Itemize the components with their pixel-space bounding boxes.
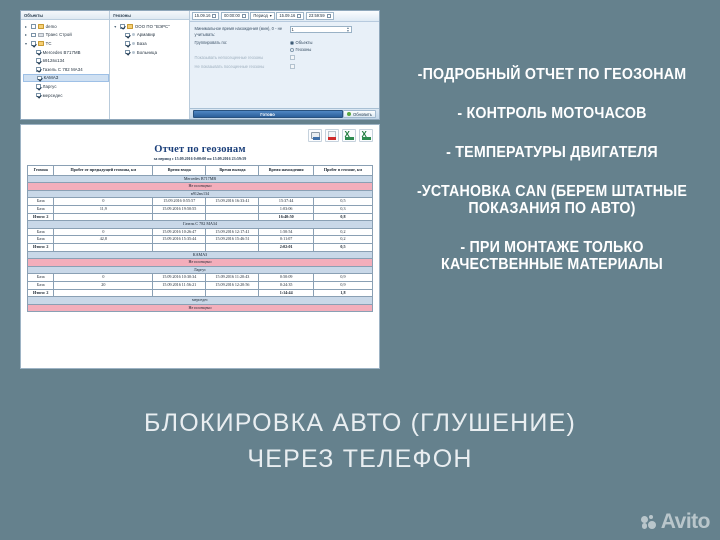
table-total-row: Итого: 22:02:010,5: [28, 243, 373, 251]
group-by-geozones-label: Геозоны: [296, 47, 312, 52]
filter-panel: 15.09.16 00:00:00 Период ▾ 15.09.16 23:5…: [190, 11, 379, 119]
group-by-row: Группировать по: Объекты Геозоны: [195, 40, 374, 52]
table-cell: База: [28, 281, 54, 289]
refresh-button[interactable]: Обновить: [343, 110, 376, 118]
chevron-down-icon: ▾: [270, 12, 272, 19]
table-total-cell: [153, 213, 206, 221]
checkbox-checked-icon[interactable]: [125, 33, 130, 38]
geozones-tree-item-label: Больница: [137, 50, 157, 55]
table-cell: 0:24:35: [259, 281, 313, 289]
table-row: База015.09.2016 10:26:4715.09.2016 12:17…: [28, 228, 373, 236]
date-to-field[interactable]: 15.09.16: [276, 12, 304, 20]
vehicle-group-row: Ларгус: [28, 266, 373, 274]
group-by-objects-label: Объекты: [296, 40, 313, 45]
report-period: за период с 15.09.2016 0:00:00 по 15.09.…: [27, 156, 373, 161]
headline-line: БЛОКИРОВКА АВТО (ГЛУШЕНИЕ): [20, 405, 700, 441]
folder-icon: [38, 24, 44, 29]
table-total-cell: [54, 243, 153, 251]
refresh-button-label: Обновить: [353, 112, 372, 117]
folder-icon: [38, 41, 44, 46]
table-cell: 1:03:06: [259, 205, 313, 213]
table-cell: 15.09.2016 0:55:57: [153, 198, 206, 206]
folder-icon: [127, 24, 133, 29]
checkbox-checked-icon[interactable]: [125, 50, 130, 55]
table-row: База2015.09.2016 11:56:2115.09.2016 12:2…: [28, 281, 373, 289]
vehicle-group-row: в912вх134: [28, 190, 373, 198]
avito-watermark: Avito: [641, 510, 710, 534]
date-range-toolbar: 15.09.16 00:00:00 Период ▾ 15.09.16 23:5…: [190, 11, 379, 22]
expander-icon[interactable]: ▸: [25, 32, 29, 37]
objects-tree-item[interactable]: Ларгус: [23, 82, 109, 91]
objects-tree-item[interactable]: в912вх134: [23, 56, 109, 65]
table-row: База11,915.09.2016 19:50:551:03:060,3: [28, 205, 373, 213]
table-cell: 15.09.2016 10:30:34: [153, 274, 206, 282]
table-cell: 0: [54, 198, 153, 206]
min-stay-input[interactable]: 1 ▲▼: [290, 26, 352, 33]
table-total-cell: [206, 289, 259, 297]
table-header: ГеозонаПробег от предыдущей геозоны, кмВ…: [28, 166, 373, 176]
period-select[interactable]: Период ▾: [250, 12, 274, 20]
group-by-label: Группировать по:: [195, 40, 290, 46]
show-unvisited-checkbox[interactable]: [290, 55, 295, 60]
table-cell: 15.09.2016 16:33:41: [206, 198, 259, 206]
calendar-icon[interactable]: [212, 14, 216, 19]
group-by-geozones-radio[interactable]: Геозоны: [290, 47, 313, 52]
vehicle-group-row-label: мерседес: [28, 297, 373, 305]
table-total-cell: Итого: 2: [28, 213, 54, 221]
time-from-value: 00:00:00: [224, 12, 240, 19]
table-cell: База: [28, 236, 54, 244]
geozone-dot-icon: [132, 42, 135, 45]
not-visited-row: Не посещено: [28, 183, 373, 191]
table-cell: 0,2: [313, 228, 372, 236]
table-total-cell: 0,8: [313, 213, 372, 221]
checkbox-checked-icon[interactable]: [125, 41, 130, 46]
table-row: База015.09.2016 10:30:3415.09.2016 11:20…: [28, 274, 373, 282]
table-cell: 0,3: [313, 205, 372, 213]
table-total-cell: [206, 243, 259, 251]
date-from-field[interactable]: 15.09.16: [192, 12, 220, 20]
time-to-field[interactable]: 23:59:59: [306, 12, 334, 20]
geozones-tree[interactable]: ▾ООО ПО "ВЭРС"АрмавирБазаБольница: [110, 20, 188, 119]
geozones-panel-title: Геозоны: [110, 11, 188, 20]
table-cell: 0,9: [313, 281, 372, 289]
table-column-header: Время входа: [153, 166, 206, 176]
radio-off-icon: [290, 48, 294, 52]
objects-tree-item-label: в912вх134: [43, 58, 65, 63]
table-cell: 11,9: [54, 205, 153, 213]
table-cell: 15.09.2016 11:56:21: [153, 281, 206, 289]
table-cell: 15.09.2016 15:35:44: [153, 236, 206, 244]
table-column-header: Время выхода: [206, 166, 259, 176]
geozones-tree-item[interactable]: Армавир: [112, 31, 188, 40]
objects-tree-item-label: Газель С 782 МА34: [43, 67, 83, 72]
checkbox-checked-icon[interactable]: [36, 84, 41, 89]
min-stay-label: Минимальное время нахождения (мин), 0 - …: [195, 26, 290, 37]
checkbox-checked-icon[interactable]: [31, 41, 36, 46]
geozone-dot-icon: [132, 51, 135, 54]
refresh-icon: [347, 112, 352, 117]
checkbox-checked-icon[interactable]: [37, 76, 42, 81]
not-visited-row: Не посещено: [28, 304, 373, 312]
table-total-cell: [206, 213, 259, 221]
table-column-header: Время нахождения: [259, 166, 313, 176]
geozones-tree-item-label: Армавир: [137, 32, 155, 37]
objects-panel: Объекты ▸demo▸Транс Строй▾ТСMercedes B71…: [21, 11, 110, 119]
table-total-cell: [153, 243, 206, 251]
table-cell: База: [28, 205, 54, 213]
objects-tree-item-label: demo: [46, 24, 57, 29]
table-row: База015.09.2016 0:55:5715.09.2016 16:33:…: [28, 198, 373, 206]
objects-tree-item[interactable]: Газель С 782 МА34: [23, 65, 109, 74]
expander-icon[interactable]: ▾: [25, 41, 29, 46]
table-total-cell: 16:40:50: [259, 213, 313, 221]
table-cell: 15.09.2016 12:20:56: [206, 281, 259, 289]
filter-body: Минимальное время нахождения (мин), 0 - …: [190, 22, 379, 108]
objects-tree-item[interactable]: ▸Транс Строй: [23, 31, 109, 40]
objects-tree-item-label: КАМАЗ: [44, 75, 59, 80]
checkbox-icon[interactable]: [31, 33, 36, 38]
table-cell: База: [28, 274, 54, 282]
objects-tree[interactable]: ▸demo▸Транс Строй▾ТСMercedes B717MBв912в…: [21, 20, 109, 119]
headline: БЛОКИРОВКА АВТО (ГЛУШЕНИЕ)ЧЕРЕЗ ТЕЛЕФОН: [20, 405, 700, 477]
table-body: Mercedes B717MBНе посещенов912вх134База0…: [28, 175, 373, 312]
objects-tree-item-label: Ларгус: [43, 84, 57, 89]
table-total-cell: Итого: 2: [28, 243, 54, 251]
pdf-icon[interactable]: [325, 129, 339, 142]
objects-tree-item-label: Транс Строй: [46, 32, 72, 37]
table-cell: 0,5: [313, 198, 372, 206]
table-cell: 42,8: [54, 236, 153, 244]
table-cell: 0: [54, 274, 153, 282]
table-cell: 15.09.2016 12:17:41: [206, 228, 259, 236]
checkbox-checked-icon[interactable]: [36, 50, 41, 55]
table-total-cell: [54, 289, 153, 297]
marketing-bullet: -ПОДРОБНЫЙ ОТЧЕТ ПО ГЕОЗОНАМ: [405, 66, 699, 83]
vehicle-group-row-label: Ларгус: [28, 266, 373, 274]
export-toolbar: [27, 129, 373, 143]
hide-visited-row[interactable]: Не показывать посещенные геозоны: [195, 64, 374, 70]
report-sheet: Отчет по геозонам за период с 15.09.2016…: [20, 124, 380, 369]
checkbox-icon[interactable]: [31, 24, 36, 29]
objects-tree-item-label: Mercedes B717MB: [43, 50, 81, 55]
table-cell: [206, 205, 259, 213]
table-total-cell: [54, 213, 153, 221]
table-header-row: ГеозонаПробег от предыдущей геозоны, кмВ…: [28, 166, 373, 176]
vehicle-group-row-label: КАМАЗ: [28, 251, 373, 259]
radio-on-icon: [290, 41, 294, 45]
table-cell: База: [28, 198, 54, 206]
geozone-report-table: ГеозонаПробег от предыдущей геозоны, кмВ…: [27, 165, 373, 312]
table-cell: 0: [54, 228, 153, 236]
not-visited-row-label: Не посещено: [28, 259, 373, 267]
vehicle-group-row-label: Mercedes B717MB: [28, 175, 373, 183]
report-title: Отчет по геозонам: [27, 144, 373, 155]
table-cell: 0,9: [313, 274, 372, 282]
vehicle-group-row: мерседес: [28, 297, 373, 305]
ready-button[interactable]: Готово: [193, 110, 343, 118]
expander-icon[interactable]: ▾: [114, 24, 118, 29]
table-total-cell: 2:02:01: [259, 243, 313, 251]
hide-visited-label: Не показывать посещенные геозоны: [195, 64, 290, 70]
marketing-bullet: -УСТАНОВКА CAN (БЕРЕМ ШТАТНЫЕ ПОКАЗАНИЯ …: [405, 183, 699, 217]
table-total-row: Итого: 216:40:500,8: [28, 213, 373, 221]
vehicle-group-row-label: в912вх134: [28, 190, 373, 198]
table-cell: 0:50:09: [259, 274, 313, 282]
expander-icon[interactable]: ▸: [25, 24, 29, 29]
table-cell: 15.09.2016 19:50:55: [153, 205, 206, 213]
table-cell: 1:50:54: [259, 228, 313, 236]
table-total-cell: 1,8: [313, 289, 372, 297]
xls-icon[interactable]: [342, 129, 356, 142]
geozones-tree-item[interactable]: База: [112, 39, 188, 48]
checkbox-checked-icon[interactable]: [120, 24, 125, 29]
table-cell: 20: [54, 281, 153, 289]
objects-tree-item[interactable]: Mercedes B717MB: [23, 48, 109, 57]
table-total-cell: Итого: 2: [28, 289, 54, 297]
not-visited-row-label: Не посещено: [28, 183, 373, 191]
tracking-app-window: Объекты ▸demo▸Транс Строй▾ТСMercedes B71…: [20, 10, 380, 120]
marketing-bullets: -ПОДРОБНЫЙ ОТЧЕТ ПО ГЕОЗОНАМ- КОНТРОЛЬ М…: [392, 66, 712, 295]
table-cell: 0,2: [313, 236, 372, 244]
clock-icon[interactable]: [327, 14, 331, 19]
marketing-bullet: - ТЕМПЕРАТУРЫ ДВИГАТЕЛЯ: [405, 144, 699, 161]
vehicle-group-row: Газель С 782 МА34: [28, 221, 373, 229]
show-unvisited-label: Показывать непосещенные геозоны: [195, 55, 290, 61]
time-from-field[interactable]: 00:00:00: [221, 12, 249, 20]
date-to-value: 15.09.16: [279, 12, 295, 19]
hide-visited-checkbox[interactable]: [290, 64, 295, 69]
show-unvisited-row[interactable]: Показывать непосещенные геозоны: [195, 55, 374, 61]
table-row: База42,815.09.2016 15:35:4415.09.2016 15…: [28, 236, 373, 244]
table-total-cell: 0,5: [313, 243, 372, 251]
table-cell: 15:37:44: [259, 198, 313, 206]
objects-tree-item[interactable]: мерседес: [23, 91, 109, 100]
min-stay-row: Минимальное время нахождения (мин), 0 - …: [195, 26, 374, 37]
action-bar: Готово Обновить: [190, 108, 379, 119]
avito-logo-icon: [641, 515, 658, 530]
objects-tree-item[interactable]: ▾ТС: [23, 39, 109, 48]
table-cell: 0:11:07: [259, 236, 313, 244]
objects-tree-item-label: ТС: [46, 41, 52, 46]
vehicle-group-row: КАМАЗ: [28, 251, 373, 259]
date-from-value: 15.09.16: [195, 12, 211, 19]
checkbox-checked-icon[interactable]: [36, 67, 41, 72]
objects-tree-item[interactable]: КАМАЗ: [23, 74, 109, 83]
table-total-row: Итого: 21:14:441,8: [28, 289, 373, 297]
geozones-tree-item[interactable]: ▾ООО ПО "ВЭРС": [112, 22, 188, 31]
marketing-bullet: - КОНТРОЛЬ МОТОЧАСОВ: [405, 105, 699, 122]
table-cell: База: [28, 228, 54, 236]
spinner-arrows-icon[interactable]: ▲▼: [346, 27, 349, 33]
period-label: Период: [253, 12, 267, 19]
min-stay-value: 1: [292, 27, 294, 32]
table-column-header: Пробег от предыдущей геозоны, км: [54, 166, 153, 176]
vehicle-group-row: Mercedes B717MB: [28, 175, 373, 183]
checkbox-checked-icon[interactable]: [36, 58, 41, 63]
clock-icon[interactable]: [242, 14, 246, 19]
folder-icon: [38, 33, 44, 38]
checkbox-checked-icon[interactable]: [36, 93, 41, 98]
table-column-header: Геозона: [28, 166, 54, 176]
table-column-header: Пробег в геозоне, км: [313, 166, 372, 176]
marketing-bullet: - ПРИ МОНТАЖЕ ТОЛЬКО КАЧЕСТВЕННЫЕ МАТЕРИ…: [405, 239, 699, 273]
calendar-icon[interactable]: [297, 14, 301, 19]
objects-tree-item-label: мерседес: [43, 93, 63, 98]
table-total-cell: [153, 289, 206, 297]
not-visited-row-label: Не посещено: [28, 304, 373, 312]
headline-line: ЧЕРЕЗ ТЕЛЕФОН: [20, 441, 700, 477]
geozones-panel: Геозоны ▾ООО ПО "ВЭРС"АрмавирБазаБольниц…: [110, 11, 189, 119]
not-visited-row: Не посещено: [28, 259, 373, 267]
group-by-objects-radio[interactable]: Объекты: [290, 40, 313, 45]
avito-wordmark: Avito: [661, 510, 710, 534]
geozones-tree-item-label: ООО ПО "ВЭРС": [135, 24, 170, 29]
print-icon[interactable]: [308, 129, 322, 142]
geozone-dot-icon: [132, 33, 135, 36]
xlsx-icon[interactable]: [359, 129, 373, 142]
geozones-tree-item-label: База: [137, 41, 147, 46]
table-cell: 15.09.2016 15:46:51: [206, 236, 259, 244]
time-to-value: 23:59:59: [309, 12, 325, 19]
geozones-tree-item[interactable]: Больница: [112, 48, 188, 57]
objects-tree-item[interactable]: ▸demo: [23, 22, 109, 31]
table-total-cell: 1:14:44: [259, 289, 313, 297]
table-cell: 15.09.2016 11:20:43: [206, 274, 259, 282]
vehicle-group-row-label: Газель С 782 МА34: [28, 221, 373, 229]
objects-panel-title: Объекты: [21, 11, 109, 20]
table-cell: 15.09.2016 10:26:47: [153, 228, 206, 236]
